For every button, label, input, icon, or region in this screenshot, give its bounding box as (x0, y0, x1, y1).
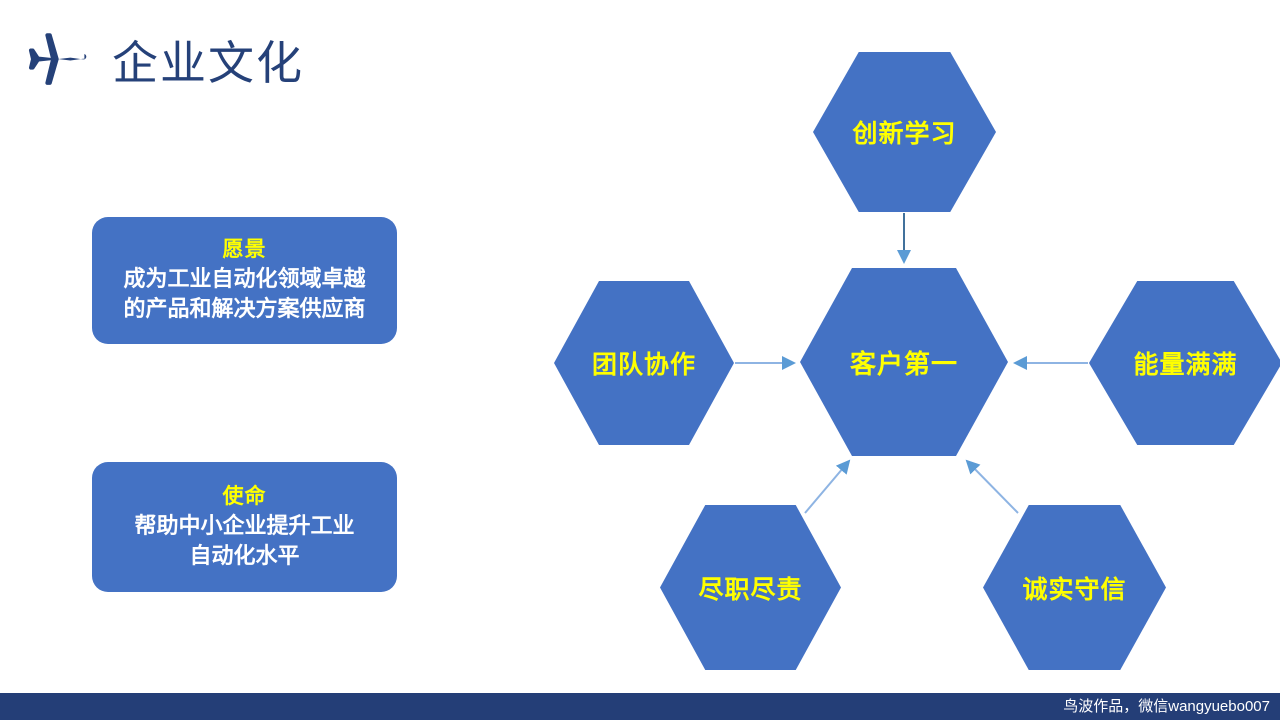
hexagon-label-left: 团队协作 (592, 345, 696, 381)
page-title: 企业文化 (112, 34, 304, 92)
hexagon-teamwork[interactable]: 团队协作 (554, 281, 734, 445)
hexagon-label-center: 客户第一 (850, 344, 958, 381)
hexagon-full-of-energy[interactable]: 能量满满 (1089, 281, 1280, 445)
footer-credit: 鸟波作品，微信wangyuebo007 (1063, 693, 1270, 720)
hexagon-label-right: 能量满满 (1133, 345, 1237, 381)
footer-bar: 鸟波作品，微信wangyuebo007 (0, 693, 1280, 720)
hexagon-innovation-learning[interactable]: 创新学习 (813, 52, 996, 212)
mission-card[interactable]: 使命 帮助中小企业提升工业 自动化水平 (92, 462, 397, 592)
hexagon-dutiful[interactable]: 尽职尽责 (660, 505, 841, 670)
vision-card-heading: 愿景 (223, 235, 267, 264)
mission-card-heading: 使命 (223, 482, 267, 511)
slide-canvas: 企业文化 愿景 成为工业自动化领域卓越 的产品和解决方案供应商 使命 帮助中小企… (0, 0, 1280, 720)
mission-card-body: 帮助中小企业提升工业 自动化水平 (134, 511, 354, 571)
slide-header: 企业文化 (0, 0, 640, 125)
vision-card-body: 成为工业自动化领域卓越 的产品和解决方案供应商 (123, 264, 365, 324)
vision-card[interactable]: 愿景 成为工业自动化领域卓越 的产品和解决方案供应商 (92, 217, 397, 344)
airplane-icon (22, 27, 88, 93)
hexagon-label-bottom-right: 诚实守信 (1022, 570, 1126, 606)
hexagon-label-top: 创新学习 (852, 114, 956, 150)
connector-bottom-right-to-center (967, 461, 1018, 513)
connector-bottom-left-to-center (805, 461, 849, 513)
hexagon-customer-first[interactable]: 客户第一 (800, 268, 1008, 456)
hexagon-honesty[interactable]: 诚实守信 (983, 505, 1166, 670)
hexagon-label-bottom-left: 尽职尽责 (698, 570, 802, 606)
